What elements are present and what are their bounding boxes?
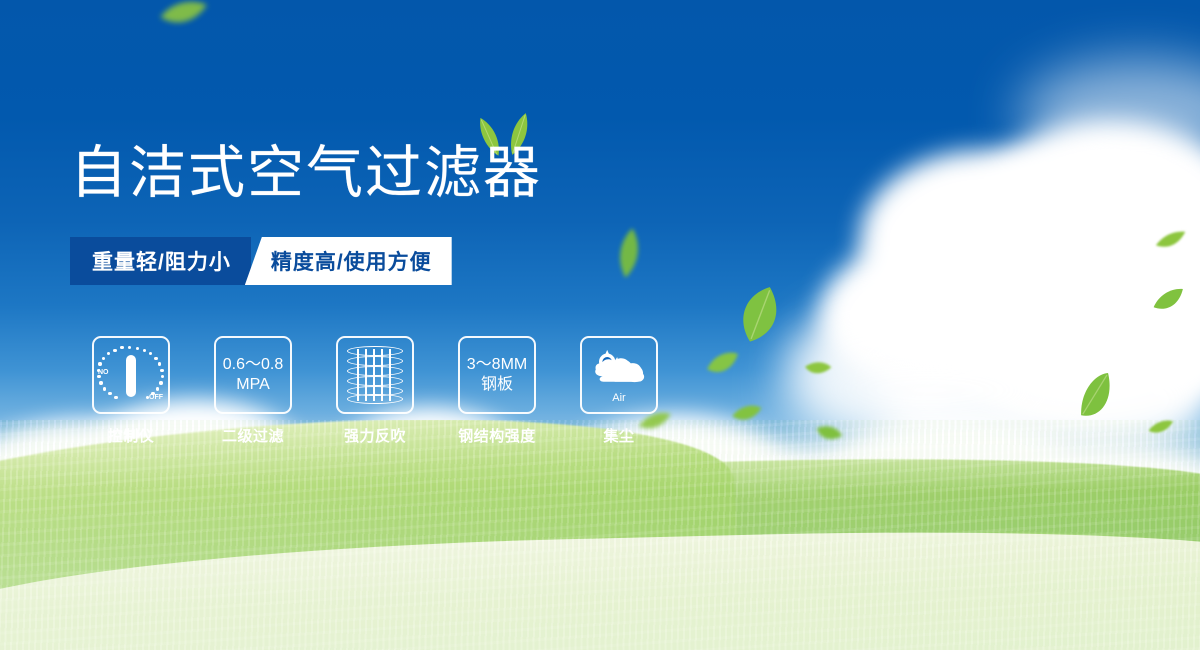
feature-icon-box [336,336,414,414]
page-title: 自洁式空气过滤器 [70,141,542,205]
banner-content: 自洁式空气过滤器 重量轻/阻力小 精度高/使用方便 [0,0,1200,650]
feature-item-filtration[interactable]: 0.6～0.8 MPA 二级过滤 [192,336,314,446]
feature-item-blowback[interactable]: 强力反吹 [314,336,436,446]
dial-label-no: NO [98,369,109,376]
cloud-air-icon: Air [588,349,650,401]
feature-label: 集尘 [603,425,634,446]
dial-needle [126,355,136,397]
feature-label: 二级过滤 [222,425,284,446]
tagline-badge-group: 重量轻/阻力小 精度高/使用方便 [70,237,452,285]
filter-stack-icon [347,345,403,405]
feature-icon-box: Air [580,336,658,414]
feature-label: 控制仪 [108,425,155,446]
feature-icon-box: 3～8MM 钢板 [458,336,536,414]
pressure-text-icon-line1: 0.6～0.8 [223,355,284,375]
feature-icon-box: NO OFF [92,336,170,414]
feature-icon-box: 0.6～0.8 MPA [214,336,292,414]
tagline-badge-secondary: 精度高/使用方便 [245,237,452,285]
hero-banner: 自洁式空气过滤器 重量轻/阻力小 精度高/使用方便 [0,0,1200,650]
feature-label: 钢结构强度 [458,425,536,446]
feature-item-steel[interactable]: 3～8MM 钢板 钢结构强度 [436,336,558,446]
steel-plate-text-icon-line1: 3～8MM [467,355,527,375]
tagline-badge-primary: 重量轻/阻力小 [70,237,251,285]
cloud-air-icon-caption: Air [588,392,650,404]
feature-label: 强力反吹 [344,425,406,446]
dial-label-off: OFF [149,394,163,401]
control-dial-icon: NO OFF [98,344,164,406]
steel-plate-text-icon-line2: 钢板 [481,375,513,395]
pressure-text-icon-line2: MPA [236,375,269,395]
feature-item-dust[interactable]: Air 集尘 [558,336,680,446]
feature-list: NO OFF 控制仪 0.6～0.8 MPA 二级过滤 [70,336,680,446]
feature-item-control[interactable]: NO OFF 控制仪 [70,336,192,446]
